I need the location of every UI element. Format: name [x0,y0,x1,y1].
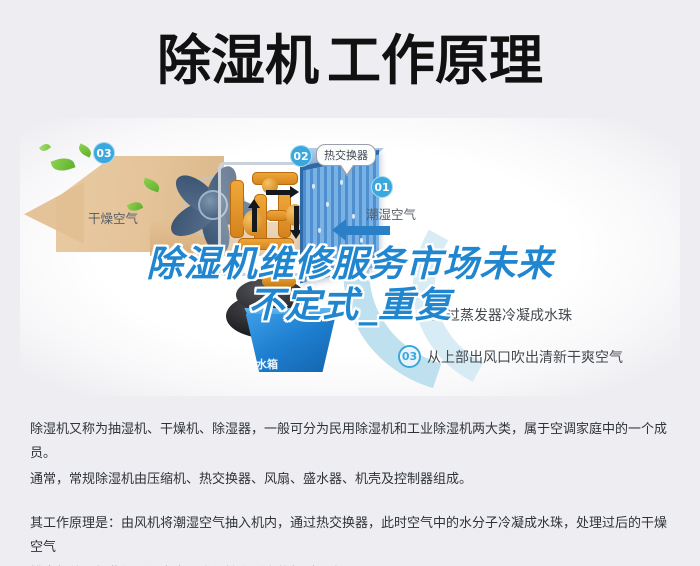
water-droplet-icon [318,228,321,233]
humid-air-label: 潮湿空气 [366,204,416,223]
water-droplet-icon [312,184,315,189]
water-droplet-icon [360,238,363,243]
humid-air-inflow-arrow-icon [346,226,390,235]
water-droplet-icon [334,246,337,251]
caption-step-03: 03 从上部出风口吹出清新干爽空气 [398,345,623,368]
water-droplet-icon [352,214,355,219]
flow-arrow-down-icon [252,208,257,232]
flow-arrow-right-icon [266,190,290,195]
refrigerant-coil [266,210,288,221]
compressor-pipe [262,276,296,287]
badge-03: 03 [93,142,115,164]
page-title-part2: 工作原理 [327,34,543,88]
body-paragraph-2: 通常，常规除湿机由压缩机、热交换器、风扇、盛水器、机壳及控制器组成。 [30,468,678,492]
refrigerant-coil [230,180,244,238]
badge-02: 02 [290,145,312,167]
page-title-part1: 除湿机 [157,34,319,88]
flow-arrow-up-icon [294,206,299,230]
body-paragraph-4: 排出机外，如此循环使室内湿度保持在适宜的相对湿度。 [30,562,678,566]
caption-step-02: 经过蒸发器冷凝成水珠 [432,305,572,325]
body-paragraph-3: 其工作原理是：由风机将潮湿空气抽入机内，通过热交换器，此时空气中的水分子冷凝成水… [30,512,678,560]
water-tank-label: 水箱 [256,356,278,372]
body-paragraph-1: 除湿机又称为抽湿机、干燥机、除湿器，一般可分为民用除湿机和工业除湿机两大类，属于… [30,418,678,466]
article-body: 除湿机又称为抽湿机、干燥机、除湿器，一般可分为民用除湿机和工业除湿机两大类，属于… [30,418,678,566]
caption-step-03-text: 从上部出风口吹出清新干爽空气 [427,347,623,367]
page-title: 除湿机 工作原理 [0,26,700,96]
water-droplet-icon [326,202,329,207]
caption-badge-03: 03 [398,345,421,368]
page-root: 除湿机 工作原理 [0,0,700,566]
water-droplet-icon [340,180,343,185]
badge-01: 01 [371,176,393,198]
refrigerant-coil [238,238,294,250]
dry-air-label: 干燥空气 [88,208,138,227]
heat-exchanger-callout: 热交换器 [316,144,376,166]
